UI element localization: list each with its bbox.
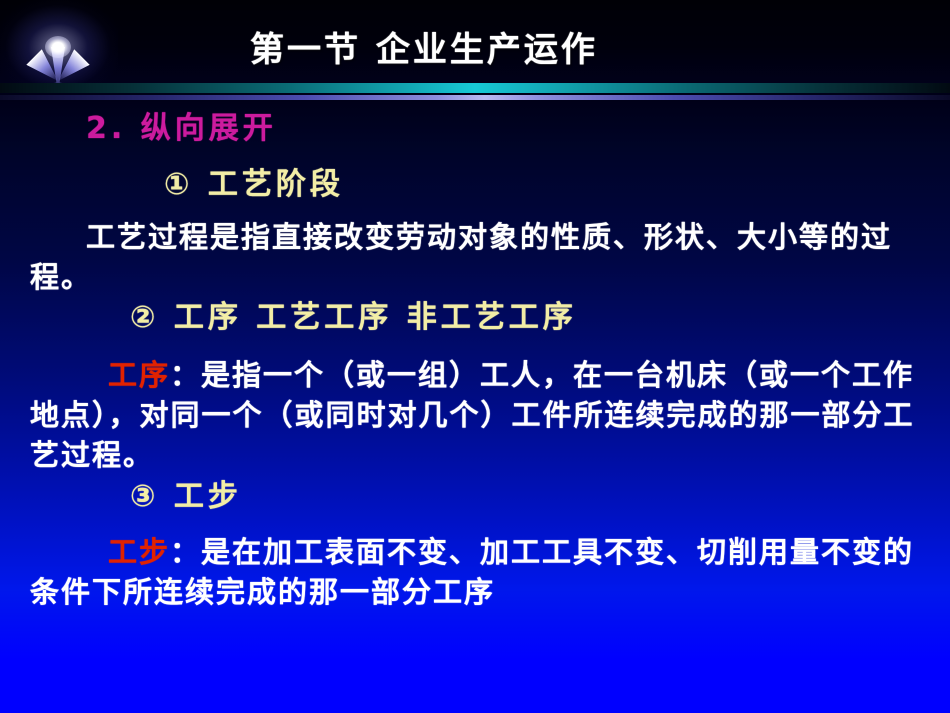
starburst-core [45, 36, 71, 58]
paragraph-2: 工序：是指一个（或一组）工人，在一台机床（或一个工作地点），对同一个（或同时对几… [30, 355, 930, 475]
list-item-marker-2: ② 工序 工艺工序 非工艺工序 [130, 303, 577, 333]
keyword-gongbu: 工步 [108, 535, 170, 569]
paragraph-3: 工步：是在加工表面不变、加工工具不变、切削用量不变的条件下所连续完成的那一部分工… [30, 532, 930, 612]
slide-header: 第一节 企业生产运作 [0, 0, 950, 84]
divider-bar-cyan [0, 83, 950, 93]
list-item-marker-3: ③ 工步 [130, 482, 242, 512]
presentation-slide: 第一节 企业生产运作 2. 纵向展开 ① 工艺阶段 工艺过程是指直接改变劳动对象… [0, 0, 950, 713]
section-heading: 2. 纵向展开 [86, 114, 277, 144]
paragraph-1: 工艺过程是指直接改变劳动对象的性质、形状、大小等的过程。 [30, 217, 930, 297]
slide-body: 2. 纵向展开 ① 工艺阶段 工艺过程是指直接改变劳动对象的性质、形状、大小等的… [0, 100, 950, 713]
page-title: 第一节 企业生产运作 [250, 22, 598, 71]
keyword-gongxu: 工序 [108, 358, 170, 392]
list-item-marker-1: ① 工艺阶段 [164, 170, 344, 200]
